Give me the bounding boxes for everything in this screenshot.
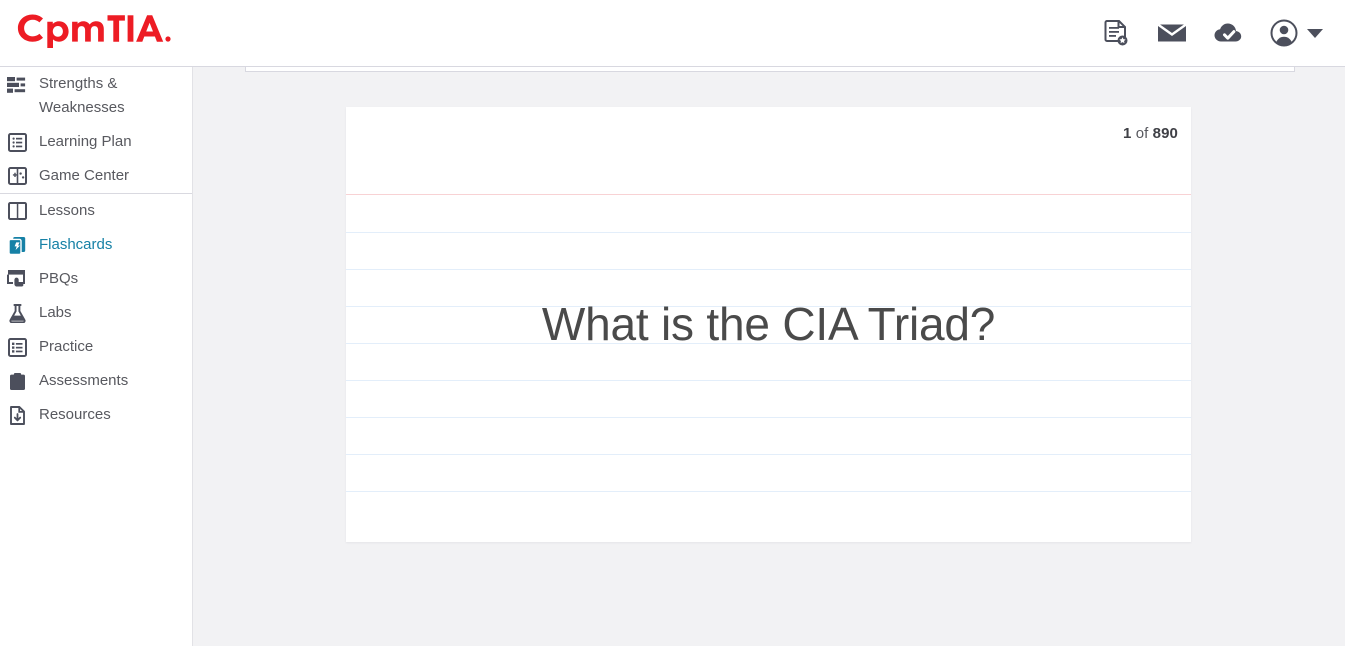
flashcard-face-front[interactable]: What is the CIA Triad? — [346, 107, 1191, 542]
sidebar-item-label: PBQs — [39, 267, 182, 291]
flashcard[interactable]: 1 of 890 What is the CIA Triad? — [346, 107, 1191, 542]
sidebar-item-label: Flashcards — [39, 233, 182, 257]
account-icon[interactable] — [1269, 18, 1299, 48]
sidebar-item-label: Labs — [39, 301, 182, 325]
labs-icon — [6, 301, 28, 325]
sidebar-item-practice[interactable]: Practice — [0, 330, 192, 364]
sidebar-group-study: Lessons Flashcards PBQs — [0, 193, 192, 432]
sidebar-item-assessments[interactable]: Assessments — [0, 364, 192, 398]
sidebar-item-label: Game Center — [39, 164, 182, 188]
main-content: 1 of 890 What is the CIA Triad? — [194, 67, 1345, 646]
sidebar-item-lessons[interactable]: Lessons — [0, 194, 192, 228]
resources-icon — [6, 403, 28, 427]
sidebar-item-labs[interactable]: Labs — [0, 296, 192, 330]
game-center-icon — [6, 164, 28, 188]
sidebar-item-resources[interactable]: Resources — [0, 398, 192, 432]
sidebar-item-pbqs[interactable]: PBQs — [0, 262, 192, 296]
sidebar-item-label: Practice — [39, 335, 182, 359]
pbqs-icon — [6, 267, 28, 291]
sidebar-item-flashcards[interactable]: Flashcards — [0, 228, 192, 262]
cloud-check-icon[interactable] — [1213, 18, 1243, 48]
scrolled-panel-top — [245, 67, 1295, 72]
notes-icon[interactable] — [1101, 18, 1131, 48]
strengths-icon — [6, 72, 28, 96]
lessons-icon — [6, 199, 28, 223]
sidebar-item-label: Strengths & Weaknesses — [39, 72, 182, 120]
learning-plan-icon — [6, 130, 28, 154]
sidebar-item-label: Lessons — [39, 199, 182, 223]
comptia-logo[interactable] — [12, 6, 212, 50]
practice-icon — [6, 335, 28, 359]
sidebar: Strengths & Weaknesses Learning Plan — [0, 67, 193, 646]
app-header — [0, 0, 1345, 67]
assessments-icon — [6, 369, 28, 393]
sidebar-item-label: Resources — [39, 403, 182, 427]
sidebar-item-learning-plan[interactable]: Learning Plan — [0, 125, 192, 159]
sidebar-item-label: Assessments — [39, 369, 182, 393]
sidebar-item-game-center[interactable]: Game Center — [0, 159, 192, 193]
flashcards-icon — [6, 233, 28, 257]
sidebar-item-label: Learning Plan — [39, 130, 182, 154]
account-menu[interactable] — [1269, 18, 1323, 48]
sidebar-group-progress: Strengths & Weaknesses Learning Plan — [0, 67, 192, 193]
sidebar-item-strengths-weaknesses[interactable]: Strengths & Weaknesses — [0, 67, 192, 125]
header-actions — [1101, 0, 1323, 66]
flashcard-question: What is the CIA Triad? — [542, 297, 995, 351]
chevron-down-icon[interactable] — [1307, 29, 1323, 38]
mail-icon[interactable] — [1157, 18, 1187, 48]
